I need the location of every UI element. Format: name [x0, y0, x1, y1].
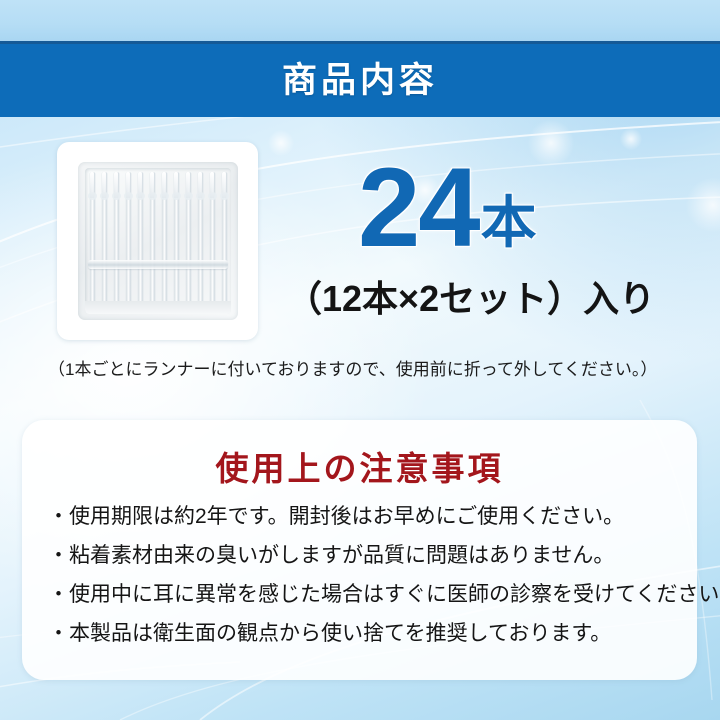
ear-pick [137, 172, 144, 312]
ear-pick [209, 172, 216, 312]
precautions-title: 使用上の注意事項 [22, 442, 697, 490]
tray-lip [85, 301, 231, 314]
runner-bar [88, 260, 228, 269]
ear-pick [149, 172, 156, 312]
section-header-banner: 商品内容 [0, 41, 720, 117]
top-strip [0, 0, 720, 41]
precautions-list: ・使用期限は約2年です。開封後はお早めにご使用ください。 ・粘着素材由来の臭いが… [48, 506, 687, 662]
ear-pick [161, 172, 168, 312]
ear-pick [197, 172, 204, 312]
ear-pick [173, 172, 180, 312]
list-item: ・使用中に耳に異常を感じた場合はすぐに医師の診察を受けてください。 [48, 584, 687, 605]
quantity-unit: 本 [481, 195, 537, 251]
ear-pick [101, 172, 108, 312]
product-tray [78, 162, 238, 320]
quantity-number: 24 [358, 158, 479, 259]
bokeh-circle [686, 178, 720, 232]
ear-pick [113, 172, 120, 312]
product-image-card [57, 142, 258, 340]
quantity-breakdown: （12本×2セット）入り [286, 270, 655, 322]
ear-pick [89, 172, 96, 312]
ear-pick [185, 172, 192, 312]
list-item: ・本製品は衛生面の観点から使い捨てを推奨しております。 [48, 623, 687, 644]
bokeh-circle [620, 128, 642, 150]
precautions-panel: 使用上の注意事項 ・使用期限は約2年です。開封後はお早めにご使用ください。 ・粘… [22, 420, 697, 680]
page-title: 商品内容 [282, 63, 438, 98]
list-item: ・使用期限は約2年です。開封後はお早めにご使用ください。 [48, 506, 687, 527]
product-tray-inner [85, 168, 231, 314]
runner-note: （1本ごとにランナーに付いておりますので、使用前に折って外してください。） [48, 355, 657, 380]
product-info-graphic: 商品内容 24 本 （12本×2セ [0, 0, 720, 720]
quantity-display: 24 本 [358, 158, 537, 259]
list-item: ・粘着素材由来の臭いがしますが品質に問題はありません。 [48, 545, 687, 566]
ear-pick [125, 172, 132, 312]
bokeh-circle [268, 130, 294, 156]
ear-pick [221, 172, 228, 312]
